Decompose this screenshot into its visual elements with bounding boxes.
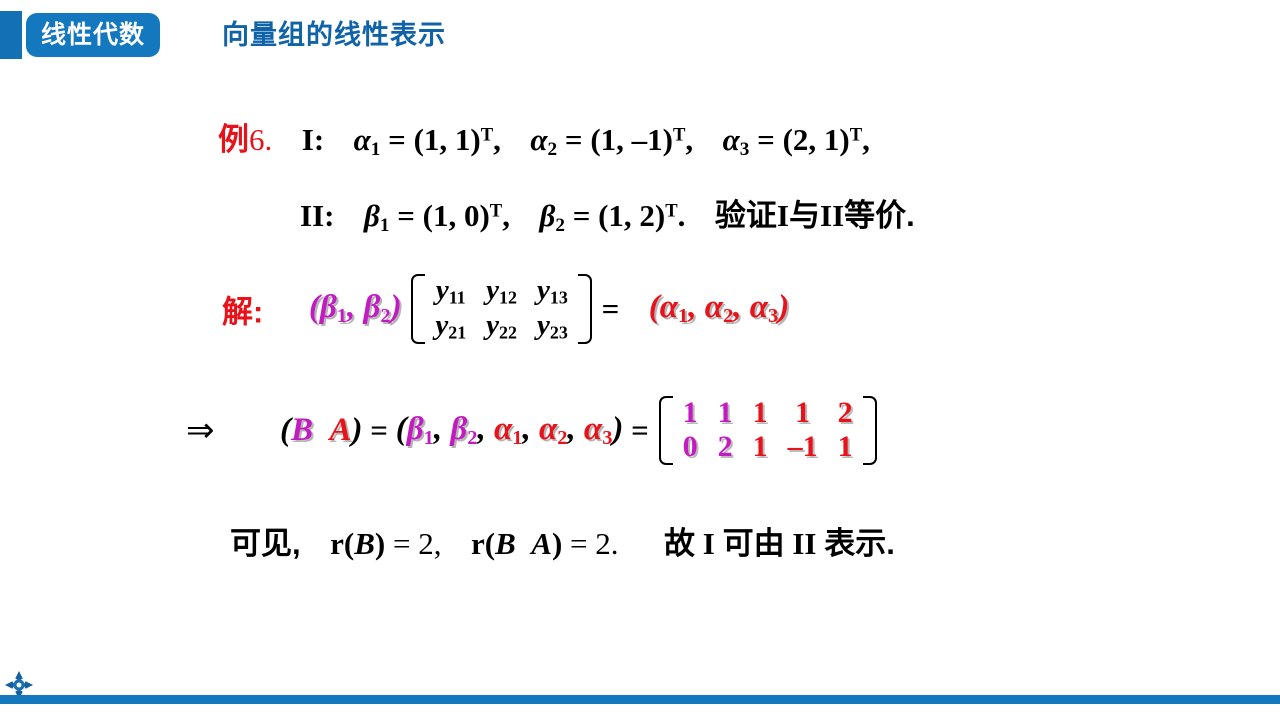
equals-sign: = <box>573 198 598 233</box>
implication-line: ⇒ (B A) = (β1, β2, α1, α2, α3) = 1 1 1 1… <box>186 396 879 465</box>
vector-list-group: (β1, β2, α1, α2, α3) <box>396 411 624 447</box>
matrix-grid: 1 1 1 1 2 0 2 1 –1 1 <box>673 396 863 465</box>
page-title: 向量组的线性表示 <box>222 15 446 55</box>
vector-alpha-3: α3 <box>723 122 750 157</box>
matrix-cell-r2c1: 0 <box>673 430 708 464</box>
matrix-cell-y21: y21 <box>425 309 476 344</box>
vector-beta-1-value: (1, 0)T, <box>423 198 510 233</box>
matrix-cell-r2c2: 2 <box>708 430 743 464</box>
matrix-cell-r1c2: 1 <box>708 396 743 430</box>
matrix-cell-y23: y23 <box>527 309 578 344</box>
vector-beta-2-value: (1, 2)T. <box>598 198 685 233</box>
slide-content: 例6. I: α1 = (1, 1)T, α2 = (1, –1)T, α3 =… <box>0 78 1280 658</box>
vector-alpha-2-value: (1, –1)T, <box>590 122 693 157</box>
matrix-cell-y13: y13 <box>527 274 578 309</box>
equals-sign: = <box>602 291 620 326</box>
equals-sign: = <box>370 412 395 447</box>
example-label: 例6. <box>218 122 272 157</box>
matrix-cell-r1c3: 1 <box>743 396 778 430</box>
matrix-cell-y12: y12 <box>476 274 527 309</box>
equals-sign: = <box>565 122 590 157</box>
solution-label: 解: <box>222 294 263 329</box>
set-one-name: I: <box>302 122 324 157</box>
equals-sign: = <box>397 198 422 233</box>
task-equivalent-text: 等价. <box>844 198 915 233</box>
rank-B-value: = 2, <box>393 526 441 561</box>
vector-beta-1: β1 <box>364 198 390 233</box>
vector-beta-2: β2 <box>539 198 565 233</box>
conclusion-set-II: II <box>792 526 816 561</box>
task-set-II: II <box>820 198 844 233</box>
matrix-cell-y22: y22 <box>476 309 527 344</box>
slide-header: 线性代数 向量组的线性表示 <box>0 0 1280 78</box>
task-verify-text: 验证 <box>715 198 777 233</box>
conclusion-gu: 故 <box>664 526 695 561</box>
conclusion-set-I: I <box>703 526 715 561</box>
set-two-name: II: <box>300 198 334 233</box>
matrix-grid: y11 y12 y13 y21 y22 y23 <box>425 274 578 344</box>
matrix-cell-r1c4: 1 <box>778 396 828 430</box>
matrix-row: 1 1 1 1 2 <box>673 396 863 430</box>
footer-accent-bar <box>0 695 1280 704</box>
augmented-matrix-name: (B A) <box>280 412 363 448</box>
matrix-cell-r2c4: –1 <box>778 430 828 464</box>
vector-alpha-3-value: (2, 1)T, <box>783 122 870 157</box>
matrix-cell-r2c3: 1 <box>743 430 778 464</box>
conclusion-biaoshi: 表示. <box>824 526 895 561</box>
task-set-I: I <box>777 198 789 233</box>
matrix-row: y11 y12 y13 <box>425 274 578 309</box>
numeric-augmented-matrix: 1 1 1 1 2 0 2 1 –1 1 <box>659 396 877 465</box>
rank-BA-expression: r(B A) <box>471 526 562 561</box>
matrix-row: 0 2 1 –1 1 <box>673 430 863 464</box>
vector-alpha-2: α2 <box>530 122 557 157</box>
task-conjunction: 与 <box>789 198 820 233</box>
solution-line: 解: (β1, β2) y11 y12 y13 y21 y22 y23 = (α… <box>222 274 789 344</box>
equals-sign: = <box>757 122 782 157</box>
matrix-cell-r1c1: 1 <box>673 396 708 430</box>
matrix-row: y21 y22 y23 <box>425 309 578 344</box>
y-coefficient-matrix: y11 y12 y13 y21 y22 y23 <box>411 274 592 344</box>
course-badge[interactable]: 线性代数 <box>26 13 160 57</box>
rank-BA-value: = 2. <box>570 526 618 561</box>
conclusion-line: 可见, r(B) = 2, r(B A) = 2. 故 I 可由 II 表示. <box>230 518 895 563</box>
conclusion-prefix: 可见, <box>230 526 301 561</box>
equals-sign: = <box>388 122 413 157</box>
rank-B-expression: r(B) <box>330 526 385 561</box>
example-line-2: II: β1 = (1, 0)T, β2 = (1, 2)T. 验证I与II等价… <box>300 190 915 237</box>
beta-pair-group: (β1, β2) <box>309 289 402 325</box>
matrix-cell-r2c5: 1 <box>828 430 863 464</box>
equals-sign: = <box>631 412 656 447</box>
header-accent-block <box>0 11 22 59</box>
matrix-cell-y11: y11 <box>425 274 476 309</box>
matrix-cell-r1c5: 2 <box>828 396 863 430</box>
implies-icon: ⇒ <box>186 410 215 450</box>
example-line-1: 例6. I: α1 = (1, 1)T, α2 = (1, –1)T, α3 =… <box>218 114 870 161</box>
alpha-triple-group: (α1, α2, α3) <box>649 289 789 325</box>
vector-alpha-1: α1 <box>354 122 381 157</box>
vector-alpha-1-value: (1, 1)T, <box>414 122 501 157</box>
conclusion-keyou: 可由 <box>723 526 785 561</box>
